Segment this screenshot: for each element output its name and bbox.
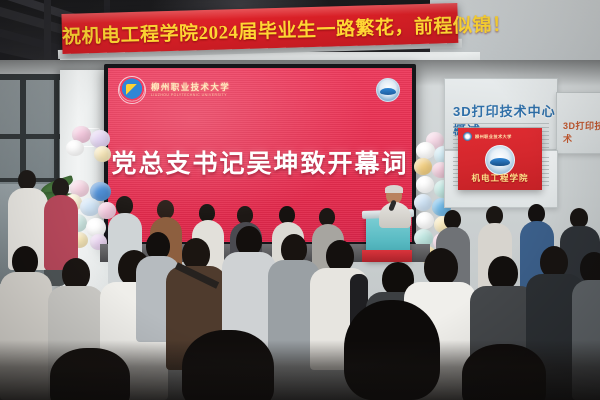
screen-university-logo: 柳州职业技术大学 LIUZHOU POLYTECHNIC UNIVERSITY [118,76,230,104]
photo-scene: 柳州职业技术大学 LIUZHOU POLYTECHNIC UNIVERSITY … [0,0,600,400]
foreground-crowd-shadow [0,340,600,400]
led-stage-screen: 柳州职业技术大学 LIUZHOU POLYTECHNIC UNIVERSITY … [104,64,416,246]
department-flag: 柳州职业技术大学 机电工程学院 [458,128,542,190]
school-emblem-icon [485,145,515,175]
led-screen-surface: 柳州职业技术大学 LIUZHOU POLYTECHNIC UNIVERSITY … [108,68,412,242]
wall-sign-secondary-title: 3D打印技术 [563,119,600,145]
university-name-en: LIUZHOU POLYTECHNIC UNIVERSITY [151,94,230,97]
university-name-cn: 柳州职业技术大学 [151,83,230,92]
school-emblem-icon [376,78,400,102]
university-seal-icon [463,132,472,141]
flag-main-text: 机电工程学院 [458,172,542,184]
university-seal-icon [118,76,146,104]
led-screen-title: 党总支书记吴坤致开幕词 [108,144,412,180]
flag-header-text: 柳州职业技术大学 [475,134,512,140]
banner-text: 祝机电工程学院2024届毕业生一路繁花，前程似锦！ [62,11,459,49]
wall-sign-secondary: 3D打印技术 [556,92,600,154]
flag-header: 柳州职业技术大学 [463,132,512,141]
